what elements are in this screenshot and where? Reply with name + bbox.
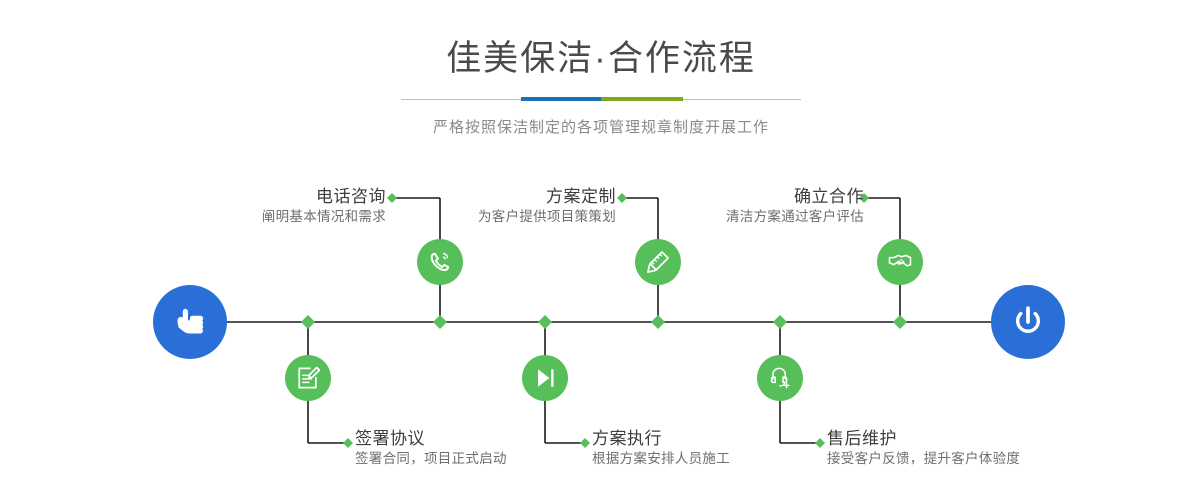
step-label-3: 方案定制 为客户提供项目策策划 — [478, 186, 616, 228]
step-desc-4: 根据方案安排人员施工 — [592, 449, 730, 469]
step-title-1: 电话咨询 — [262, 186, 386, 207]
flowchart-page: 佳美保洁·合作流程 严格按照保洁制定的各项管理规章制度开展工作 — [0, 0, 1202, 502]
power-icon — [1008, 302, 1048, 342]
axis-diamond-4 — [651, 315, 665, 329]
axis-diamond-5 — [773, 315, 787, 329]
connector-lines — [0, 0, 1202, 502]
step-title-4: 方案执行 — [592, 428, 730, 449]
step-desc-3: 为客户提供项目策策划 — [478, 207, 616, 227]
step-title-2: 签署协议 — [355, 428, 507, 449]
diagram-canvas — [0, 0, 1202, 502]
phone-call-icon — [426, 248, 454, 276]
step-desc-1: 阐明基本情况和需求 — [262, 207, 386, 227]
label-diamond-6 — [815, 438, 825, 448]
start-node[interactable] — [153, 285, 227, 359]
pencil-ruler-icon — [644, 248, 672, 276]
label-diamond-4 — [580, 438, 590, 448]
label-diamond-1 — [387, 193, 397, 203]
axis-diamond-1 — [301, 315, 315, 329]
step-node-3[interactable] — [635, 239, 681, 285]
step-desc-2: 签署合同，项目正式启动 — [355, 449, 507, 469]
step-title-6: 售后维护 — [827, 428, 1020, 449]
label-diamond-2 — [343, 438, 353, 448]
step-label-2: 签署协议 签署合同，项目正式启动 — [355, 428, 507, 470]
step-title-5: 确立合作 — [726, 186, 864, 207]
axis-diamond-6 — [893, 315, 907, 329]
label-diamond-markers — [343, 193, 869, 448]
pointing-hand-icon — [170, 302, 210, 342]
step-label-1: 电话咨询 阐明基本情况和需求 — [262, 186, 386, 228]
step-label-5: 确立合作 清洁方案通过客户评估 — [726, 186, 864, 228]
document-sign-icon — [294, 364, 322, 392]
axis-diamond-2 — [433, 315, 447, 329]
step-label-6: 售后维护 接受客户反馈，提升客户体验度 — [827, 428, 1020, 470]
customer-service-add-icon — [766, 364, 794, 392]
step-node-1[interactable] — [417, 239, 463, 285]
step-desc-6: 接受客户反馈，提升客户体验度 — [827, 449, 1020, 469]
step-title-3: 方案定制 — [478, 186, 616, 207]
step-node-6[interactable] — [757, 355, 803, 401]
handshake-icon — [886, 248, 914, 276]
step-node-2[interactable] — [285, 355, 331, 401]
step-node-5[interactable] — [877, 239, 923, 285]
end-node[interactable] — [991, 285, 1065, 359]
step-desc-5: 清洁方案通过客户评估 — [726, 207, 864, 227]
axis-diamond-3 — [538, 315, 552, 329]
label-diamond-3 — [617, 193, 627, 203]
step-node-4[interactable] — [522, 355, 568, 401]
play-to-end-icon — [531, 364, 559, 392]
step-label-4: 方案执行 根据方案安排人员施工 — [592, 428, 730, 470]
